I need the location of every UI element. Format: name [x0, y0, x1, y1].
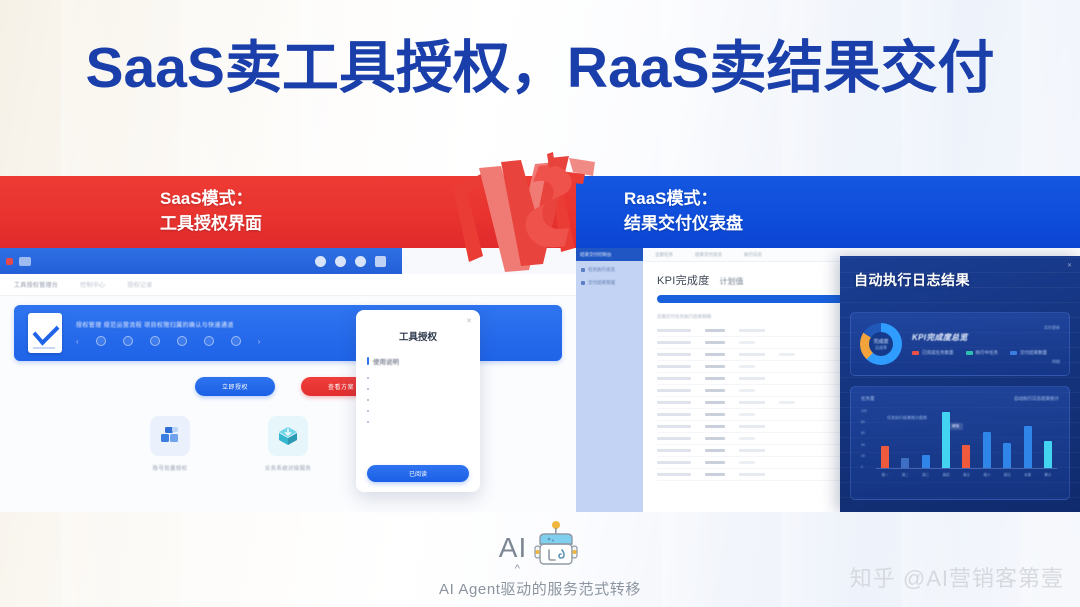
chart-bar	[983, 432, 991, 468]
topbar-filter-all-tasks[interactable]: 全部任务	[655, 252, 673, 258]
dialog-confirm-button[interactable]: 已阅读	[367, 465, 469, 482]
legend-item: 已完成任务数量	[912, 350, 954, 356]
box-arrow-icon	[268, 416, 308, 456]
step-icon-1[interactable]	[96, 336, 106, 346]
x-tick-label: 周日	[998, 473, 1016, 478]
chart-bar-column	[957, 445, 975, 468]
x-tick-label: 周二	[896, 473, 914, 478]
chart-ylabel: 任务量	[861, 396, 875, 402]
chart-bar-column	[937, 412, 955, 468]
bullet-dot-icon	[367, 388, 369, 390]
donut-center-label: 完成度 达成率	[860, 323, 902, 365]
console-sidebar: 结果交付控制台 任务执行总览 交付结果管理	[576, 248, 643, 512]
step-icon-5[interactable]	[204, 336, 214, 346]
chart-bar	[1044, 441, 1052, 468]
chart-header: 任务量 自动执行日志结果统计	[861, 396, 1059, 402]
topbar-delivery-overview[interactable]: 结果交付总览	[695, 252, 722, 258]
close-icon[interactable]: ✕	[1067, 262, 1072, 269]
feature-card-row: 账号批量授权 业务系统对接服务	[0, 416, 576, 472]
primary-authorize-button[interactable]: 立即授权	[195, 377, 275, 396]
list-icon	[581, 268, 585, 272]
feature-card-integration[interactable]: 业务系统对接服务	[246, 416, 330, 472]
chart-bar	[962, 445, 970, 468]
bullet-text	[373, 374, 469, 379]
sidebar-header: 结果交付控制台	[576, 248, 643, 261]
action-button-row: 立即授权 查看方案	[0, 377, 576, 396]
step-icon-2[interactable]	[123, 336, 133, 346]
list-item	[367, 374, 469, 379]
donut-title: KPI完成度总览	[912, 332, 1060, 343]
chart-bar	[942, 412, 950, 468]
x-tick-label: 本周	[1019, 473, 1037, 478]
tray-chat-icon[interactable]	[335, 256, 346, 267]
step-icon-3[interactable]	[150, 336, 160, 346]
bullet-dot-icon	[367, 377, 369, 379]
legend-item: 交付结果数量	[1010, 350, 1047, 356]
kpi-donut-card: 完成度 达成率 KPI完成度总览 已完成任务数量 执行中任务	[850, 312, 1070, 376]
chart-x-axis: 周一周二周三周四周五周六周日本周累计	[876, 470, 1057, 481]
kpi-subtitle: 计划值	[720, 276, 744, 287]
watermark: 知乎 @AI营销客第壹	[850, 561, 1064, 593]
tray-browser-icon[interactable]	[315, 256, 326, 267]
tab-authorization-records[interactable]: 授权记录	[127, 280, 152, 289]
x-tick-label: 周六	[978, 473, 996, 478]
chart-bars	[876, 409, 1057, 469]
bullet-dot-icon	[367, 421, 369, 423]
dashboard-title: 自动执行日志结果	[854, 270, 1066, 290]
y-tick: 60	[861, 431, 873, 435]
donut-chart: 完成度 达成率	[860, 323, 902, 365]
legend-swatch	[912, 351, 919, 355]
close-icon[interactable]: ✕	[466, 317, 472, 325]
sidebar-item-label: 任务执行总览	[588, 267, 615, 273]
chart-bar-column	[978, 432, 996, 468]
tab-control-center[interactable]: 控制中心	[80, 280, 105, 289]
sidebar-menu: 任务执行总览 交付结果管理	[576, 261, 643, 292]
raas-banner-line2: 结果交付仪表盘	[624, 212, 1080, 237]
page-title: SaaS卖工具授权，RaaS卖结果交付	[0, 22, 1080, 104]
robot-head-icon	[531, 520, 581, 576]
tray-app-icon[interactable]	[375, 256, 386, 267]
donut-legend: 已完成任务数量 执行中任务 交付结果数量	[912, 350, 1060, 356]
donut-center-sub: 达成率	[875, 345, 887, 351]
raas-screenshot-panel: 结果交付控制台 任务执行总览 交付结果管理 全部任务 结果交付总览 执行日志	[576, 248, 1080, 512]
chart-bar	[1003, 443, 1011, 468]
chart-bar-column	[896, 458, 914, 468]
bullet-text	[373, 385, 469, 390]
feature-card-label: 业务系统对接服务	[246, 464, 330, 472]
y-tick: 80	[861, 420, 873, 424]
step-icon-6[interactable]	[231, 336, 241, 346]
chevron-left-icon[interactable]: ‹	[76, 337, 79, 346]
topbar-execution-log[interactable]: 执行日志	[744, 252, 762, 258]
dialog-section-label: 使用说明	[373, 356, 399, 366]
chart-bar	[922, 455, 930, 468]
ai-logo-row: AI ^	[499, 520, 581, 576]
chart-bar	[881, 446, 889, 468]
execution-log-dashboard: ✕ 自动执行日志结果 完成度 达成率 KPI完成度总览 已完成任务数量	[840, 256, 1080, 512]
x-tick-label: 周一	[876, 473, 894, 478]
kpi-title: KPI完成度	[657, 272, 710, 288]
chart-bar-column	[1039, 441, 1057, 468]
section-accent-bar	[367, 357, 369, 365]
slide-canvas: SaaS卖工具授权，RaaS卖结果交付 SaaS模式： 工具授权界面 RaaS模…	[0, 0, 1080, 607]
checklist-document-icon	[28, 313, 62, 353]
bottom-tagline: AI Agent驱动的服务范式转移	[439, 578, 641, 599]
saas-screenshot-panel: 工具授权管理台 控制中心 授权记录 授权管理 规范运营流程 项目权限归属的确认与…	[0, 248, 576, 512]
x-tick-label: 周三	[917, 473, 935, 478]
chart-bar-column	[917, 455, 935, 468]
chart-title: 自动执行日志结果统计	[1014, 396, 1059, 402]
saas-banner-line2: 工具授权界面	[160, 212, 576, 237]
chevron-right-icon[interactable]: ›	[258, 337, 261, 346]
legend-swatch	[1010, 351, 1017, 355]
y-tick: 20	[861, 454, 873, 458]
dialog-section-heading: 使用说明	[367, 356, 469, 366]
list-item	[367, 385, 469, 390]
bullet-dot-icon	[367, 410, 369, 412]
step-icon-4[interactable]	[177, 336, 187, 346]
browser-content: 工具授权管理台 控制中心 授权记录 授权管理 规范运营流程 项目权限归属的确认与…	[0, 274, 576, 512]
comparison-banner-row: SaaS模式： 工具授权界面 RaaS模式： 结果交付仪表盘	[0, 176, 1080, 248]
sidebar-item-delivery-results[interactable]: 交付结果管理	[581, 280, 638, 286]
donut-update-note: 实时更新	[1044, 325, 1060, 331]
legend-label: 已完成任务数量	[922, 350, 954, 356]
os-taskbar	[0, 248, 402, 274]
sidebar-header-label: 结果交付控制台	[580, 252, 612, 258]
raas-banner-line1: RaaS模式：	[624, 187, 1080, 212]
legend-label: 交付结果数量	[1020, 350, 1047, 356]
bullet-text	[373, 418, 469, 423]
legend-label: 执行中任务	[976, 350, 999, 356]
feature-card-batch-auth[interactable]: 账号批量授权	[128, 416, 212, 472]
bullet-text	[373, 407, 469, 412]
bullet-text	[373, 396, 469, 401]
tab-bar: 工具授权管理台 控制中心 授权记录	[0, 274, 576, 296]
raas-banner: RaaS模式： 结果交付仪表盘	[576, 176, 1080, 248]
feature-card-label: 账号批量授权	[128, 464, 212, 472]
list-item	[367, 418, 469, 423]
donut-info: KPI完成度总览 已完成任务数量 执行中任务 交付结果数量	[912, 332, 1060, 356]
legend-item: 执行中任务	[966, 350, 999, 356]
list-item	[367, 396, 469, 401]
dialog-bullet-list	[367, 374, 469, 423]
ai-wordmark: AI ^	[499, 532, 527, 564]
chart-bar-column	[876, 446, 894, 468]
chart-bar-column	[998, 443, 1016, 468]
saas-banner: SaaS模式： 工具授权界面	[0, 176, 576, 248]
legend-swatch	[966, 351, 973, 355]
tray-cloud-icon[interactable]	[355, 256, 366, 267]
authorization-dialog: ✕ 工具授权 使用说明	[356, 310, 480, 492]
sidebar-item-label: 交付结果管理	[588, 280, 615, 286]
chart-plot-area: 100 80 60 40 20 0 任务执行结果统计趋势 峰值 周一周二周三周四…	[861, 409, 1059, 481]
y-tick: 0	[861, 465, 873, 469]
chart-bar	[901, 458, 909, 468]
list-item	[367, 407, 469, 412]
tab-authorization-console[interactable]: 工具授权管理台	[14, 280, 58, 289]
chart-bar	[1024, 426, 1032, 468]
chart-y-axis: 100 80 60 40 20 0	[861, 409, 873, 469]
caret-mark-icon: ^	[515, 563, 521, 575]
saas-banner-line1: SaaS模式：	[160, 187, 576, 212]
y-tick: 100	[861, 409, 873, 413]
x-tick-label: 累计	[1039, 473, 1057, 478]
slide-title-area: SaaS卖工具授权，RaaS卖结果交付	[0, 22, 1080, 104]
taskbar-logo-icon	[6, 258, 13, 265]
chart-bar-column	[1019, 426, 1037, 468]
sidebar-item-task-overview[interactable]: 任务执行总览	[581, 267, 638, 273]
bullet-dot-icon	[367, 399, 369, 401]
x-tick-label: 周四	[937, 473, 955, 478]
chart-icon	[581, 281, 585, 285]
donut-center-value: 完成度	[873, 338, 888, 345]
cubes-icon	[150, 416, 190, 456]
execution-bar-chart-card: 任务量 自动执行日志结果统计 100 80 60 40 20 0 任务执行结果统…	[850, 386, 1070, 500]
x-tick-label: 周五	[957, 473, 975, 478]
donut-detail-link[interactable]: 明细	[1052, 359, 1060, 365]
taskbar-window-icon	[19, 257, 31, 266]
y-tick: 40	[861, 443, 873, 447]
dialog-title: 工具授权	[367, 329, 469, 343]
taskbar-tray	[315, 256, 396, 267]
